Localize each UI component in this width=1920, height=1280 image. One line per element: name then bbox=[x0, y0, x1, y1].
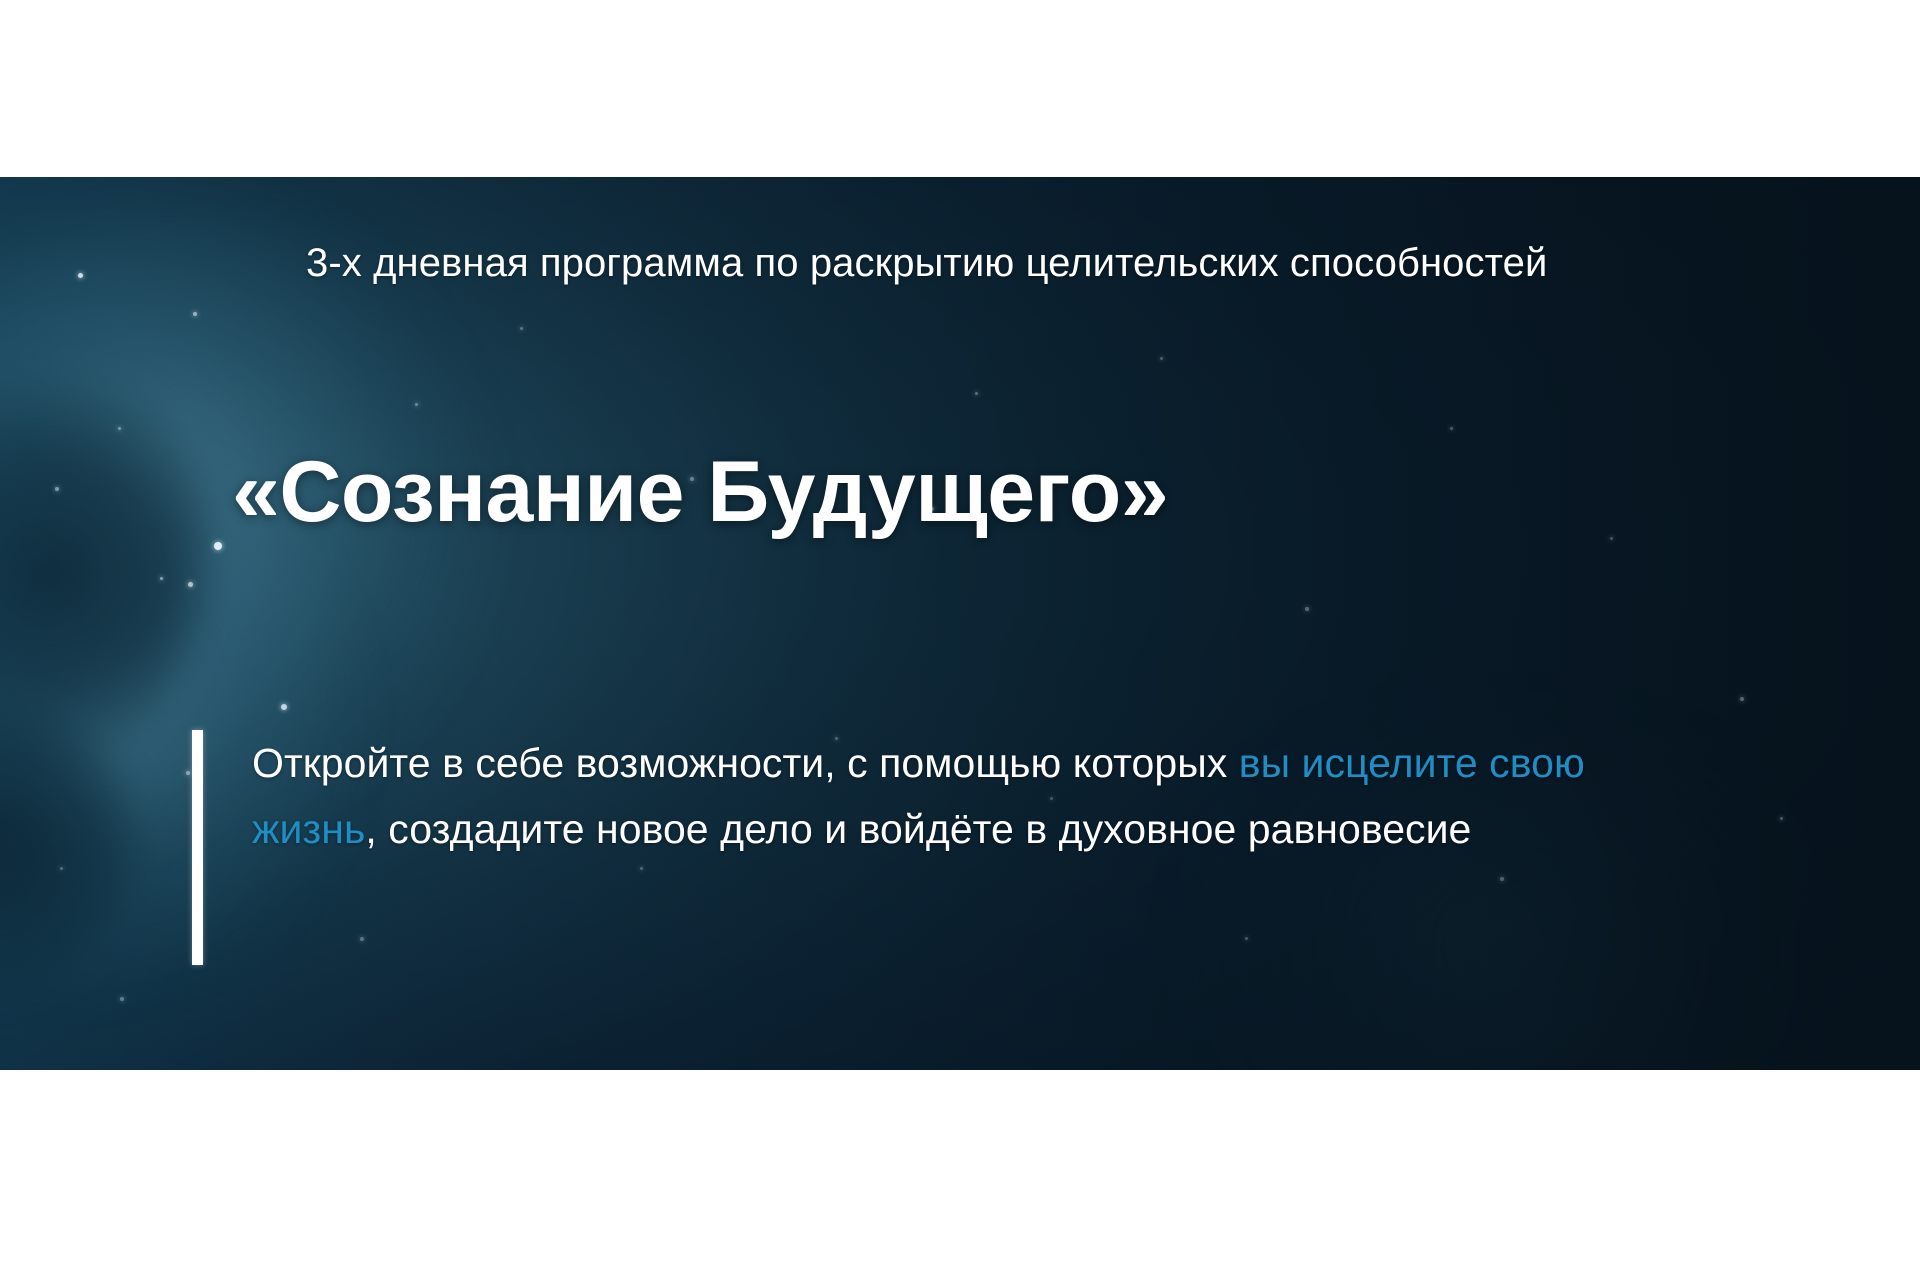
page-title: «Сознание Будущего» bbox=[232, 449, 1732, 537]
hero-content: 3-х дневная программа по раскрытию целит… bbox=[0, 177, 1920, 1070]
lead-text-part-2: , создадите новое дело и войдёте в духов… bbox=[365, 806, 1471, 852]
lead-text-part-1: Откройте в себе возможности, с помощью к… bbox=[252, 740, 1239, 786]
page-root: 3-х дневная программа по раскрытию целит… bbox=[0, 0, 1920, 1280]
hero-lead-text: Откройте в себе возможности, с помощью к… bbox=[252, 731, 1642, 862]
accent-bar bbox=[192, 730, 203, 965]
hero-banner: 3-х дневная программа по раскрытию целит… bbox=[0, 177, 1920, 1070]
hero-kicker: 3-х дневная программа по раскрытию целит… bbox=[306, 238, 1666, 289]
